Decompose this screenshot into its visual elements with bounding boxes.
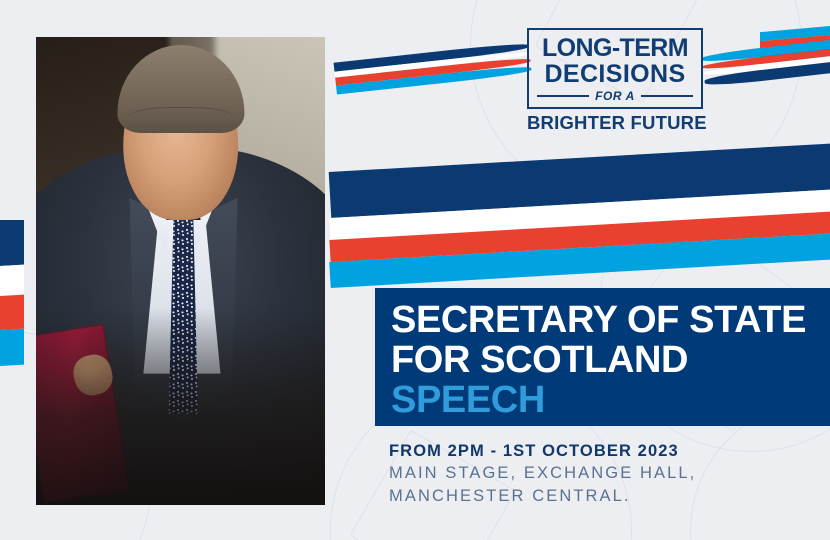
stripe-band-light-blue [0, 329, 24, 366]
campaign-logo-for-a-row: FOR A [537, 89, 693, 103]
stripe-band-navy [334, 42, 530, 72]
campaign-logo: LONG-TERM DECISIONS FOR A BRIGHTER FUTUR… [527, 28, 703, 134]
stripe-band-white [0, 265, 24, 296]
logo-rule-left [537, 95, 589, 97]
headline-text: SECRETARY OF STATE FOR SCOTLAND SPEECH [391, 300, 830, 420]
headline-line-2: FOR SCOTLAND [391, 340, 830, 380]
stripe-band-red [0, 295, 24, 330]
stripe-band-red [335, 56, 531, 85]
stripe-band-navy [329, 143, 830, 218]
campaign-logo-line-3: FOR A [595, 89, 635, 103]
campaign-logo-line-1: LONG-TERM [537, 36, 693, 61]
event-time-date: FROM 2PM - 1ST OCTOBER 2023 [389, 440, 809, 462]
campaign-logo-line-4: BRIGHTER FUTURE [527, 112, 703, 134]
main-diagonal-stripe-swoosh [330, 150, 830, 310]
event-venue-line-1: MAIN STAGE, EXCHANGE HALL, [389, 462, 809, 485]
photo-subject-glasses [127, 107, 234, 134]
speaker-photo [36, 37, 325, 505]
photo-vignette [36, 308, 325, 505]
stripe-band-light-blue [336, 64, 532, 94]
event-promo-graphic: SECRETARY OF STATE FOR SCOTLAND SPEECH F… [0, 0, 830, 540]
edge-stripes-right-upper [760, 26, 830, 70]
campaign-logo-box: LONG-TERM DECISIONS FOR A [527, 28, 703, 109]
stripe-band-white [329, 189, 830, 240]
headline-line-1: SECRETARY OF STATE [391, 300, 830, 340]
event-venue-line-2: MANCHESTER CENTRAL. [389, 485, 809, 508]
logo-rule-right [641, 95, 693, 97]
headline-line-3-accent: SPEECH [391, 380, 830, 420]
ribbon-left-of-logo [334, 42, 535, 119]
event-details: FROM 2PM - 1ST OCTOBER 2023 MAIN STAGE, … [389, 440, 809, 508]
campaign-logo-line-2: DECISIONS [537, 61, 693, 87]
edge-stripes-left [0, 220, 24, 382]
stripe-band-light-blue [329, 233, 830, 288]
stripe-band-red [329, 211, 830, 262]
stripe-band-navy [0, 220, 24, 266]
stripe-band-white [335, 51, 531, 78]
